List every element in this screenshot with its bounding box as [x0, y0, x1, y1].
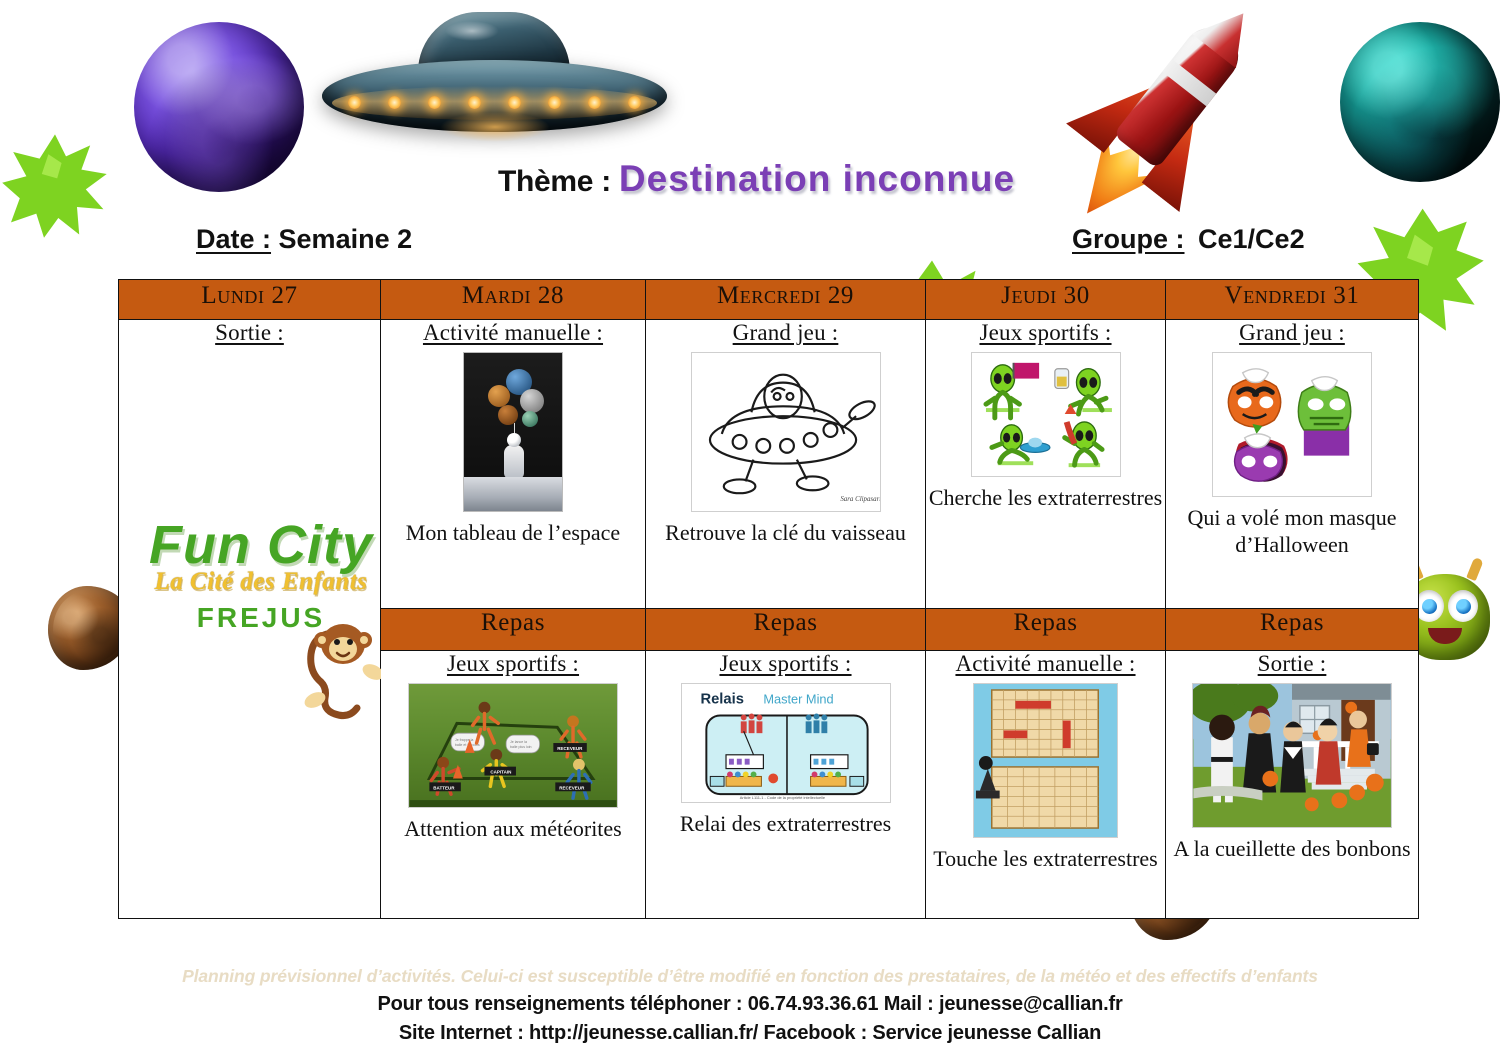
- date-value: Semaine 2: [279, 224, 413, 254]
- logo-sub-text: La Cité des Enfants: [127, 568, 395, 596]
- slime-splat-icon: [0, 130, 110, 240]
- svg-text:BATTEUR: BATTEUR: [433, 785, 455, 790]
- fun-city-logo: Fun City La Cité des Enfants FREJUS: [127, 518, 395, 718]
- activity-description: Touche les extraterrestres: [926, 846, 1165, 873]
- cell-mardi-jeuxsportifs: Jeux sportifs : Je frappe laballe et je …: [381, 650, 646, 918]
- weekly-planning-table: Lundi 27 Mardi 28 Mercredi 29 Jeudi 30 V…: [118, 279, 1419, 919]
- activity-category: Jeux sportifs :: [719, 651, 851, 677]
- activity-description: Qui a volé mon masque d’Halloween: [1166, 505, 1418, 559]
- battleship-game-board: [973, 683, 1118, 838]
- rocket-fin-right: [1142, 115, 1233, 212]
- rocket-stripe: [1162, 59, 1216, 106]
- activity-category: Sortie :: [215, 320, 284, 346]
- green-aliens-clipart: [971, 352, 1121, 477]
- svg-text:Je frappe la: Je frappe la: [455, 738, 473, 742]
- aliens-illustration: [972, 353, 1120, 476]
- space-painting-photo: [463, 352, 563, 512]
- activity-description: Cherche les extraterrestres: [926, 485, 1165, 512]
- rocket-image: [1021, 0, 1310, 255]
- ufo-lights: [348, 96, 641, 114]
- baseball-field-diagram: Je frappe laballe et je cours Je lance l…: [408, 683, 618, 808]
- svg-text:CAPITAIN: CAPITAIN: [490, 769, 511, 774]
- cell-mercredi-grandjeu: Grand jeu :: [646, 320, 926, 609]
- masks-illustration: [1213, 353, 1371, 496]
- ufo-dome: [418, 12, 570, 78]
- rocket-nose: [1192, 0, 1266, 68]
- svg-text:balle plus loin: balle plus loin: [510, 745, 531, 749]
- table-header-row: Lundi 27 Mardi 28 Mercredi 29 Jeudi 30 V…: [119, 280, 1419, 320]
- activity-category: Grand jeu :: [1239, 320, 1345, 346]
- footer-disclaimer: Planning prévisionnel d’activités. Celui…: [0, 966, 1500, 987]
- theme-value: Destination inconnue: [619, 158, 1015, 199]
- halloween-masks-photo: [1212, 352, 1372, 497]
- relais-master-mind-diagram: Relais Master Mind: [681, 683, 891, 803]
- monster-horn: [1466, 557, 1484, 581]
- cell-jeudi-activite: Activité manuelle :: [926, 650, 1166, 918]
- cell-mercredi-jeuxsportifs: Jeux sportifs : Relais Master Mind: [646, 650, 926, 918]
- rocket-fuselage: [1113, 17, 1249, 170]
- battleship-illustration: [974, 684, 1117, 837]
- activity-description: Mon tableau de l’espace: [381, 520, 645, 547]
- rocket-flame: [1052, 119, 1174, 241]
- ufo-line-art: Sara Clipasari: [692, 353, 880, 511]
- footer-contact-line: Pour tous renseignements téléphoner : 06…: [0, 993, 1500, 1016]
- svg-text:Je lance la: Je lance la: [510, 740, 527, 744]
- svg-text:RECEVEUR: RECEVEUR: [557, 746, 583, 751]
- ufo-underglow: [440, 112, 550, 142]
- field-illustration: Je frappe laballe et je cours Je lance l…: [409, 684, 617, 807]
- rocket-fin-left: [1066, 56, 1157, 153]
- cell-lundi-sortie: Sortie : Fun City La Cité des Enfants FR…: [119, 320, 381, 919]
- cell-jeudi-jeuxsportifs: Jeux sportifs :: [926, 320, 1166, 609]
- day-header-mardi: Mardi 28: [381, 280, 646, 320]
- repas-mardi: Repas: [381, 608, 646, 650]
- monster-eye: [1448, 590, 1478, 622]
- activity-description: Retrouve la clé du vaisseau: [646, 520, 925, 547]
- cell-vendredi-sortie: Sortie :: [1166, 650, 1419, 918]
- ufo-body: [322, 60, 667, 132]
- date-heading: Date : Semaine 2: [196, 224, 412, 255]
- ufo-spaceship-image: [322, 8, 667, 158]
- halloween-photo-illustration: [1193, 684, 1391, 827]
- day-header-lundi: Lundi 27: [119, 280, 381, 320]
- purple-planet-image: [134, 22, 304, 192]
- svg-text:RECEVEUR: RECEVEUR: [559, 785, 585, 790]
- logo-main-text: Fun City: [127, 518, 395, 572]
- footer-web-line: Site Internet : http://jeunesse.callian.…: [0, 1022, 1500, 1045]
- repas-jeudi: Repas: [926, 608, 1166, 650]
- activity-category: Activité manuelle :: [955, 651, 1135, 677]
- morning-activities-row: Sortie : Fun City La Cité des Enfants FR…: [119, 320, 1419, 609]
- repas-mercredi: Repas: [646, 608, 926, 650]
- relais-title-2: Master Mind: [763, 691, 833, 706]
- day-header-vendredi: Vendredi 31: [1166, 280, 1419, 320]
- ufo-rim: [332, 86, 657, 120]
- activity-description: Attention aux météorites: [381, 816, 645, 843]
- group-heading: Groupe : Ce1/Ce2: [1072, 224, 1305, 255]
- activity-category: Jeux sportifs :: [447, 651, 579, 677]
- activity-description: A la cueillette des bonbons: [1166, 836, 1418, 863]
- activity-category: Jeux sportifs :: [979, 320, 1111, 346]
- activity-category: Sortie :: [1258, 651, 1327, 677]
- activity-description: Relai des extraterrestres: [646, 811, 925, 838]
- relais-title-1: Relais: [700, 691, 743, 707]
- planet-balloons: [486, 367, 546, 429]
- group-label: Groupe :: [1072, 224, 1185, 254]
- relais-illustration: Relais Master Mind: [682, 684, 890, 802]
- trick-or-treat-photo: [1192, 683, 1392, 828]
- day-header-mercredi: Mercredi 29: [646, 280, 926, 320]
- sofa-shape: [463, 477, 563, 511]
- day-header-jeudi: Jeudi 30: [926, 280, 1166, 320]
- planning-poster: Thème :Destination inconnue Date : Semai…: [0, 0, 1500, 1060]
- activity-category: Grand jeu :: [733, 320, 839, 346]
- monster-mouth: [1428, 628, 1462, 644]
- activity-category: Activité manuelle :: [423, 320, 603, 346]
- teal-planet-image: [1340, 22, 1500, 182]
- astronaut-figure: [504, 445, 524, 479]
- ufo-coloring-drawing: Sara Clipasari: [691, 352, 881, 512]
- date-label: Date :: [196, 224, 271, 254]
- group-value: Ce1/Ce2: [1198, 224, 1305, 254]
- theme-heading: Thème :Destination inconnue: [498, 158, 1058, 204]
- footer: Planning prévisionnel d’activités. Celui…: [0, 966, 1500, 1045]
- svg-text:Article L111-1 - Code de la pr: Article L111-1 - Code de la propriété in…: [739, 795, 824, 800]
- cell-vendredi-grandjeu: Grand jeu :: [1166, 320, 1419, 609]
- svg-text:Sara Clipasari: Sara Clipasari: [840, 496, 880, 503]
- cell-mardi-activite: Activité manuelle :: [381, 320, 646, 609]
- monkey-mascot-icon: [297, 600, 389, 728]
- theme-label: Thème :: [498, 165, 611, 198]
- repas-vendredi: Repas: [1166, 608, 1419, 650]
